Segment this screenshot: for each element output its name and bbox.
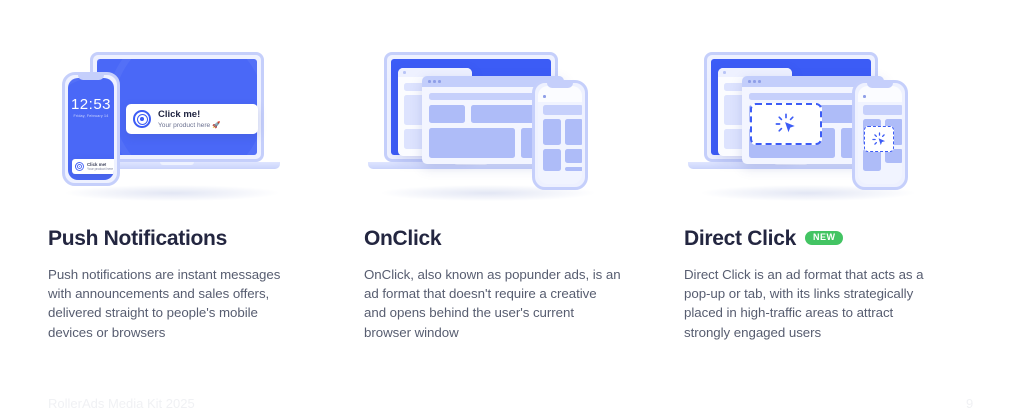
- phone-notch: [867, 83, 893, 88]
- window-dot-icon: [758, 80, 761, 83]
- format-card-onclick: OnClick OnClick, also known as popunder …: [364, 0, 676, 360]
- tap-hand-icon: [872, 132, 887, 147]
- phone-lock-date: Friday, February 14: [68, 114, 114, 118]
- format-columns: Click me! Your product here🚀 12:53: [0, 0, 1024, 410]
- phone-notch: [78, 75, 104, 80]
- smartphone-device: [852, 80, 908, 190]
- phone-status-bar: [858, 86, 902, 102]
- window-dot-icon: [428, 80, 431, 83]
- cursor-click-icon: [775, 113, 797, 135]
- phone-notch: [547, 83, 573, 88]
- format-title: OnClick: [364, 228, 441, 249]
- illustration-push-notifications: Click me! Your product here🚀 12:53: [48, 46, 348, 206]
- click-zone-phone[interactable]: [864, 126, 894, 152]
- content-block: [543, 105, 582, 115]
- window-dot-icon: [433, 80, 436, 83]
- content-block: [565, 167, 582, 171]
- content-block: [429, 105, 465, 123]
- phone-lock-time: 12:53: [68, 96, 114, 113]
- click-zone-laptop[interactable]: [750, 103, 822, 145]
- format-card-push-notifications: Click me! Your product here🚀 12:53: [48, 0, 360, 360]
- page-title-push-notifications: Push Notifications: [48, 228, 360, 249]
- status-badge-new: NEW: [805, 231, 844, 245]
- notification-subtitle-text: Your product here: [158, 122, 210, 129]
- notification-subtitle: Your product here🚀: [158, 121, 220, 129]
- content-block: [565, 149, 582, 163]
- slide: Click me! Your product here🚀 12:53: [0, 0, 1024, 410]
- page-title-direct-click: Direct Click NEW: [684, 228, 996, 249]
- content-block: [429, 128, 515, 158]
- window-dot-icon: [403, 71, 406, 74]
- smartphone-device: [532, 80, 588, 190]
- format-card-direct-click: Direct Click NEW Direct Click is an ad f…: [684, 0, 996, 360]
- format-description: Push notifications are instant messages …: [48, 265, 306, 342]
- window-dot-icon: [753, 80, 756, 83]
- illustration-onclick: [364, 46, 664, 206]
- content-block: [863, 105, 902, 115]
- window-dot-icon: [863, 95, 866, 98]
- footer-media-kit-label: RollerAds Media Kit 2025: [48, 396, 195, 411]
- phone-status-bar: [538, 86, 582, 102]
- bullseye-target-icon: [133, 110, 151, 128]
- format-description: Direct Click is an ad format that acts a…: [684, 265, 942, 342]
- window-dot-icon: [543, 95, 546, 98]
- window-dot-icon: [723, 71, 726, 74]
- format-title: Push Notifications: [48, 228, 227, 249]
- format-description: OnClick, also known as popunder ads, is …: [364, 265, 622, 342]
- content-block: [565, 119, 582, 145]
- rocket-emoji-icon: 🚀: [212, 122, 220, 129]
- page-title-onclick: OnClick: [364, 228, 676, 249]
- format-title: Direct Click: [684, 228, 796, 249]
- smartphone-device: 12:53 Friday, February 14 Click me!: [62, 72, 120, 186]
- illustration-direct-click: [684, 46, 984, 206]
- window-dot-icon: [438, 80, 441, 83]
- footer-page-number: 9: [966, 396, 973, 411]
- window-dot-icon: [748, 80, 751, 83]
- notification-title: Click me!: [158, 109, 220, 120]
- content-block: [543, 119, 561, 145]
- device-shadow: [66, 185, 278, 201]
- laptop-push-notification-card: Click me! Your product here🚀: [126, 104, 258, 134]
- phone-lock-dock: [77, 161, 113, 174]
- content-block: [863, 149, 881, 171]
- content-block: [543, 149, 561, 171]
